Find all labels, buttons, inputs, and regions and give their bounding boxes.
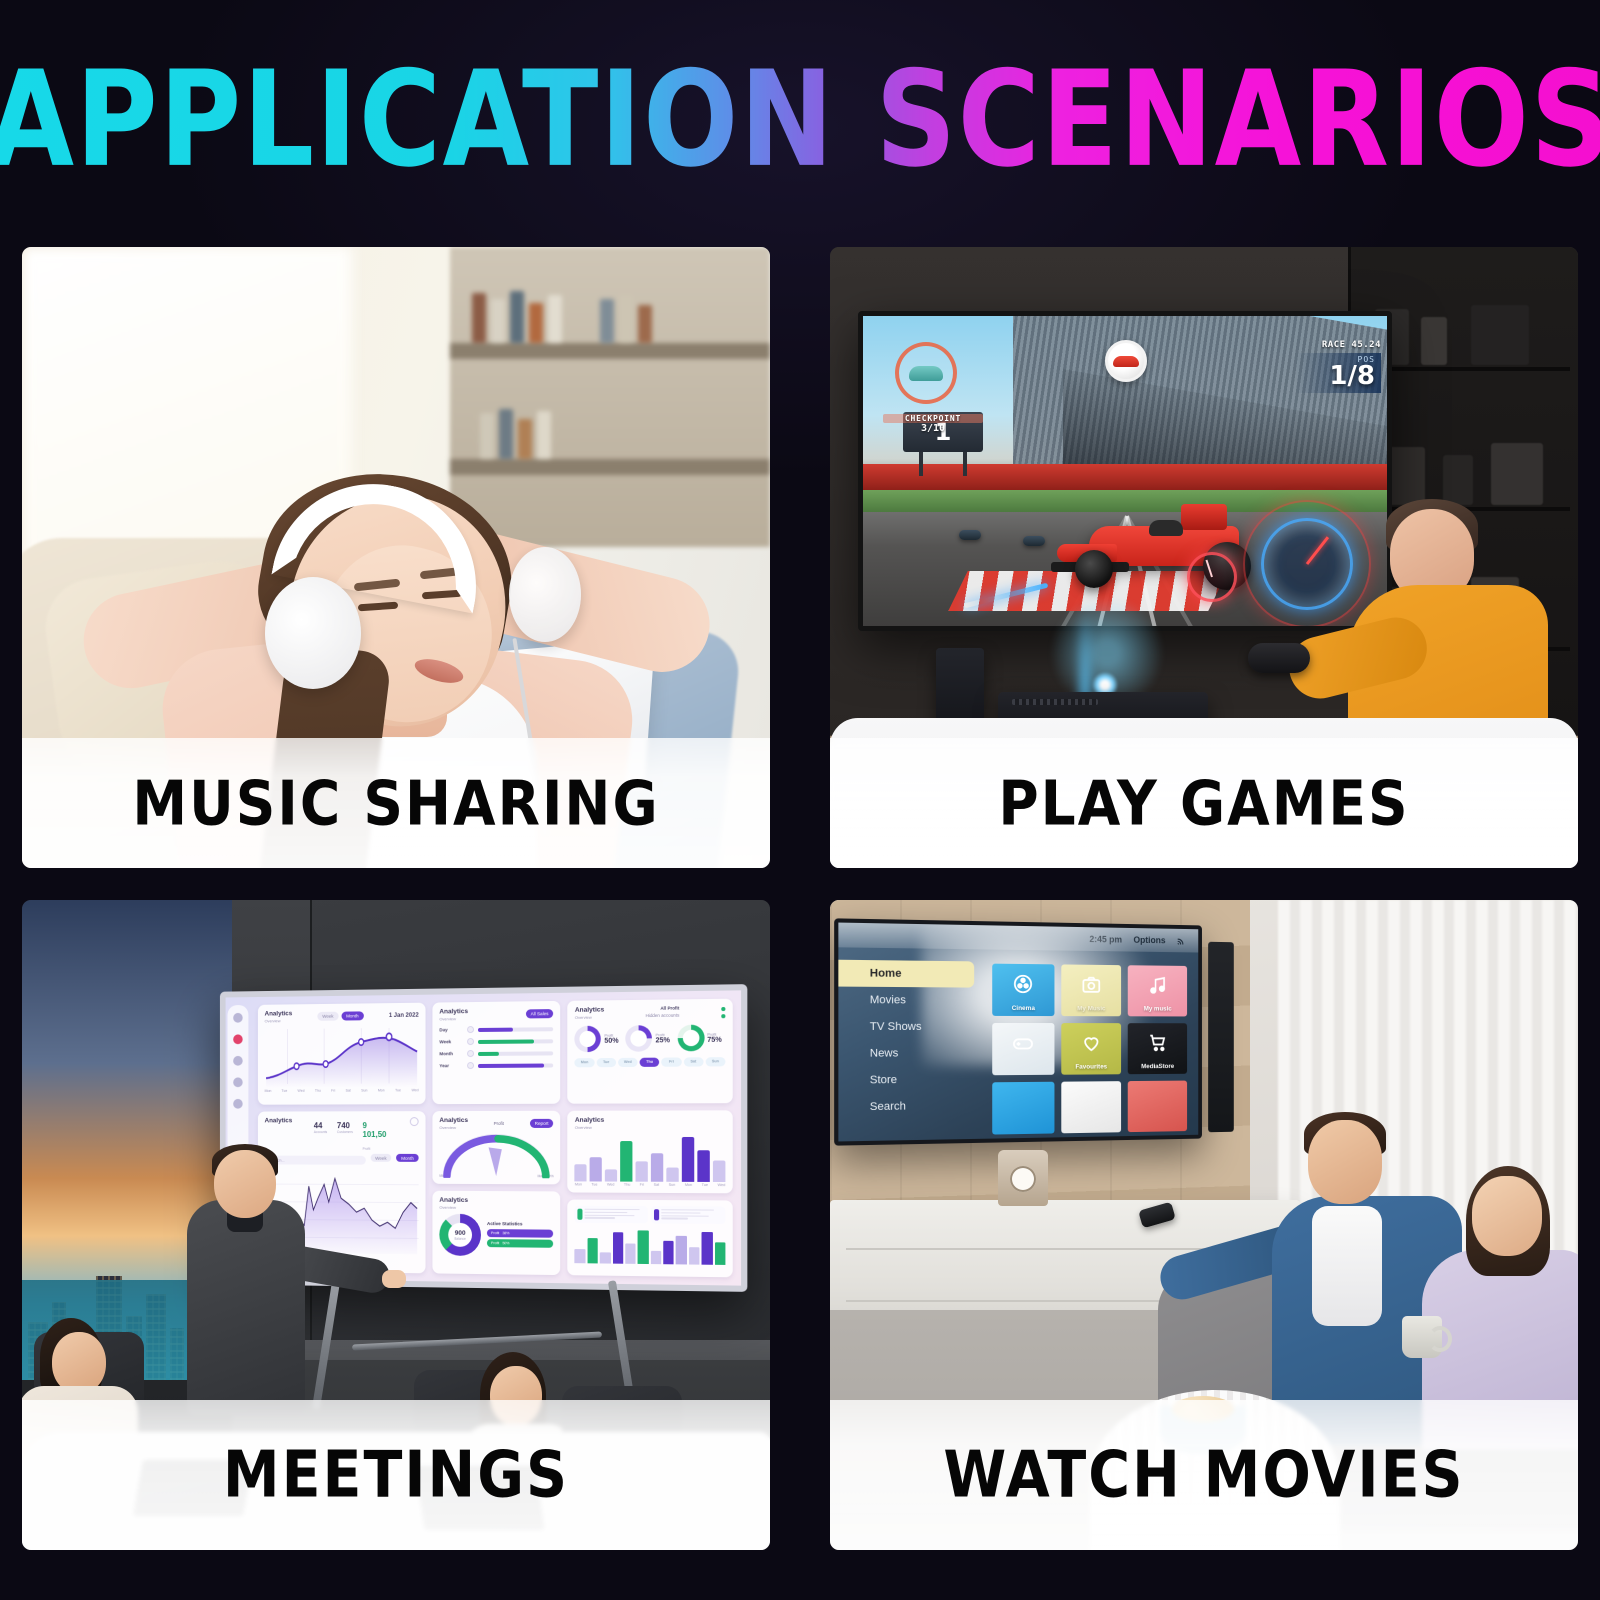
scenario-card-play-games[interactable]: 1	[830, 247, 1578, 868]
coffee-mug	[1402, 1316, 1442, 1358]
scenario-grid: MUSIC SHARING	[22, 247, 1578, 1550]
card-analytics-rows[interactable]: Analytics Overview All Sales Day Week	[432, 1001, 560, 1104]
tv-soundbar	[1208, 942, 1234, 1132]
card-subtitle: Overview	[265, 1018, 293, 1023]
active-row-value: 38%	[502, 1231, 509, 1235]
row-month: Month	[439, 1049, 553, 1057]
tv-home-menu: 2:45 pm Options Home Movies TV Shows	[838, 923, 1198, 1142]
tab-month[interactable]: Month	[396, 1154, 418, 1162]
tv-nav-item-store[interactable]: Store	[838, 1066, 974, 1094]
stat-key: Accounts	[314, 1130, 327, 1134]
tv-nav[interactable]: Home Movies TV Shows News Store Search	[838, 960, 974, 1121]
day-tab[interactable]: Mon	[575, 1058, 595, 1067]
card-date: 1 Jan 2022	[389, 1012, 419, 1018]
tab-month[interactable]: Month	[341, 1012, 363, 1020]
day-tab[interactable]: Sat	[683, 1057, 703, 1066]
bar-chart	[575, 1135, 726, 1182]
racing-game-view: 1	[863, 316, 1387, 626]
card-title: Analytics	[439, 1197, 553, 1205]
tv-nav-item-home[interactable]: Home	[838, 960, 974, 988]
card-active[interactable]: Analytics Overview 900 Balance	[432, 1191, 560, 1275]
card-title: Analytics	[575, 1117, 726, 1124]
page-title-wrap: APPLICATION SCENARIOS	[0, 0, 1600, 240]
tile-row3-b[interactable]	[1061, 1081, 1121, 1133]
card-notes[interactable]	[568, 1200, 733, 1278]
caption-label-watch-movies: WATCH MOVIES	[943, 1438, 1464, 1512]
day-tab[interactable]: Fri	[662, 1057, 682, 1066]
gamepad-device	[1248, 643, 1310, 673]
card-bars[interactable]: Analytics Overview	[568, 1110, 733, 1193]
smart-tv: 2:45 pm Options Home Movies TV Shows	[834, 918, 1202, 1145]
row-label: Month	[439, 1051, 463, 1056]
board-number: 1	[935, 418, 952, 446]
scenario-card-music-sharing[interactable]: MUSIC SHARING	[22, 247, 770, 868]
tile-label: Favourites	[1061, 1063, 1121, 1070]
mantel-clock	[998, 1150, 1048, 1206]
caption-bar-watch-movies: WATCH MOVIES	[830, 1400, 1578, 1550]
gamepad-icon	[1012, 1032, 1034, 1066]
cart-icon	[1147, 1032, 1168, 1065]
gauge-value: 50%	[604, 1037, 618, 1044]
tile-favourites[interactable]: Favourites	[1061, 1023, 1121, 1075]
card-title: Analytics	[575, 1006, 604, 1013]
tv-nav-item-tv-shows[interactable]: TV Shows	[838, 1013, 974, 1040]
stat-key: Customers	[337, 1130, 353, 1134]
card-title: Analytics	[265, 1010, 293, 1017]
row-year: Year	[439, 1061, 553, 1069]
profit-gauges: Profit 50% Profit 25%	[575, 1024, 726, 1052]
stat-value: 740	[337, 1121, 353, 1130]
day-tab[interactable]: Tue	[596, 1058, 616, 1067]
heart-icon	[1081, 1032, 1102, 1066]
tv-nav-item-movies[interactable]: Movies	[838, 987, 974, 1014]
tab-week[interactable]: Week	[317, 1012, 338, 1020]
badge-report[interactable]: Report	[530, 1119, 554, 1127]
day-tabs[interactable]: Mon Tue Wed Thu Fri Sat Sun	[575, 1057, 726, 1067]
card-title: Analytics	[439, 1008, 468, 1015]
row-day: Day	[439, 1025, 553, 1033]
day-tab-selected[interactable]: Thu	[640, 1058, 660, 1067]
tv-tile-grid[interactable]: Cinema My Music My music	[992, 964, 1187, 1135]
caption-bar-meetings: MEETINGS	[22, 1400, 770, 1550]
active-row-value: 50%	[502, 1241, 509, 1245]
caption-bar-music-sharing: MUSIC SHARING	[22, 738, 770, 868]
tile-mediastore[interactable]: MediaStore	[1128, 1023, 1187, 1074]
card-speed[interactable]: Analytics Overview Profit Report	[432, 1111, 560, 1185]
card-profit[interactable]: Analytics Overview All Profit Hidden acc…	[568, 999, 733, 1104]
tile-my-music-photo[interactable]: My Music	[1061, 964, 1121, 1016]
cast-icon	[1177, 934, 1187, 947]
tv-nav-item-news[interactable]: News	[838, 1040, 974, 1067]
line-chart-axis: MonTueWedThuFri SatSunMonTueWed	[265, 1088, 419, 1093]
page-title: APPLICATION SCENARIOS	[0, 54, 1600, 186]
mini-bar-chart	[575, 1227, 726, 1265]
bar-chart-axis: MonTueWedThuFri SatSunMonTueWed	[575, 1182, 726, 1187]
tile-row3-c[interactable]	[1128, 1081, 1187, 1133]
trackside-board: 1	[903, 412, 983, 452]
legend-hidden-accounts: Hidden accounts	[646, 1013, 680, 1018]
tile-cinema[interactable]: Cinema	[992, 964, 1054, 1016]
projection-screen: 1	[858, 311, 1392, 631]
active-row-label: Profit	[491, 1231, 499, 1235]
tile-my-music[interactable]: My music	[1128, 965, 1187, 1016]
row-label: Day	[439, 1027, 463, 1032]
card-title: Analytics	[265, 1117, 293, 1124]
tile-label: My Music	[1061, 1005, 1121, 1012]
row-label: Year	[439, 1063, 463, 1068]
tile-label: Cinema	[992, 1005, 1054, 1012]
stat-value: 9 101,50	[363, 1121, 388, 1147]
card-title: Analytics	[439, 1117, 468, 1124]
row-week: Week	[439, 1037, 553, 1045]
caption-label-play-games: PLAY GAMES	[998, 767, 1409, 839]
balance-donut: 900 Balance	[439, 1214, 481, 1256]
caption-bar-play-games: PLAY GAMES	[830, 738, 1578, 868]
tab-week[interactable]: Week	[370, 1154, 391, 1162]
speed-legend: Profit	[494, 1121, 504, 1126]
legend-all-profit: All Profit	[646, 1005, 680, 1010]
badge-all-sales[interactable]: All Sales	[526, 1009, 554, 1018]
tile-label: My music	[1128, 1005, 1187, 1012]
tile-games[interactable]	[992, 1023, 1054, 1075]
tile-row3-a[interactable]	[992, 1082, 1054, 1135]
line-chart	[265, 1026, 419, 1088]
search-input[interactable]: Search...	[265, 1156, 366, 1165]
donut-label: Balance	[454, 1236, 465, 1240]
gauge-value: 75%	[707, 1036, 722, 1043]
day-tab[interactable]: Sun	[705, 1057, 725, 1066]
tv-nav-item-search[interactable]: Search	[838, 1093, 974, 1121]
scenario-card-watch-movies[interactable]: 2:45 pm Options Home Movies TV Shows	[830, 900, 1578, 1550]
caption-label-meetings: MEETINGS	[223, 1438, 569, 1512]
film-reel-icon	[1012, 973, 1034, 1007]
active-statistics-title: Active Statistics	[487, 1221, 554, 1227]
day-tab[interactable]: Wed	[618, 1058, 638, 1067]
card-analytics-line[interactable]: Analytics Overview Week Month 1 Jan 2022	[258, 1003, 426, 1105]
note-item[interactable]	[575, 1206, 648, 1224]
camera-icon	[1081, 974, 1102, 1008]
caption-label-music-sharing: MUSIC SHARING	[132, 767, 659, 839]
note-item[interactable]	[651, 1206, 725, 1224]
stat-value: 44	[314, 1121, 327, 1130]
stat-key: Profit	[363, 1147, 388, 1151]
hud-car-ring-icon	[895, 342, 957, 404]
active-row-label: Profit	[491, 1241, 499, 1245]
tile-label: MediaStore	[1128, 1063, 1187, 1070]
speed-gauge	[439, 1134, 553, 1174]
row-label: Week	[439, 1039, 463, 1044]
scenario-card-meetings[interactable]: Analytics Overview Week Month 1 Jan 2022	[22, 900, 770, 1550]
music-note-icon	[1147, 974, 1168, 1007]
gauge-value: 25%	[656, 1037, 670, 1044]
